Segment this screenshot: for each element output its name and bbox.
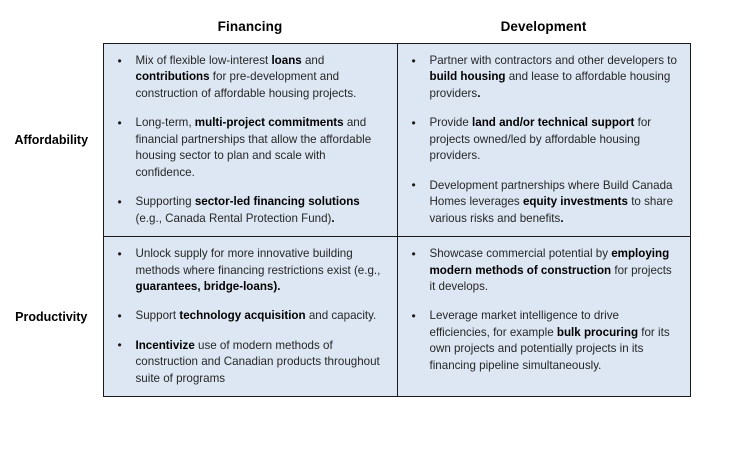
- row-header-affordability: Affordability: [0, 44, 103, 237]
- bullet-text: Showcase commercial potential by employi…: [430, 247, 672, 293]
- bullet-item: Mix of flexible low-interest loans and c…: [110, 53, 385, 102]
- bullet-text: Incentivize use of modern methods of con…: [136, 339, 380, 385]
- row-header-productivity: Productivity: [0, 237, 103, 397]
- bullet-text: Development partnerships where Build Can…: [430, 179, 674, 225]
- bullet-text: Mix of flexible low-interest loans and c…: [136, 54, 357, 100]
- table-header-row: Financing Development: [0, 10, 690, 44]
- bullet-item: Support technology acquisition and capac…: [110, 308, 385, 324]
- bullet-item: Unlock supply for more innovative buildi…: [110, 246, 385, 295]
- bullet-item: Provide land and/or technical support fo…: [404, 115, 678, 164]
- bullet-text: Provide land and/or technical support fo…: [430, 116, 652, 162]
- cell-affordability-financing: Mix of flexible low-interest loans and c…: [103, 44, 397, 237]
- strategy-matrix-table: Financing Development Affordability Mix …: [0, 10, 691, 397]
- bullet-text: Leverage market intelligence to drive ef…: [430, 309, 670, 371]
- bullet-item: Leverage market intelligence to drive ef…: [404, 308, 678, 374]
- matrix-container: Financing Development Affordability Mix …: [0, 0, 733, 453]
- bullet-text: Unlock supply for more innovative buildi…: [136, 247, 381, 293]
- bullet-list-affordability-financing: Mix of flexible low-interest loans and c…: [110, 53, 385, 227]
- table-row-affordability: Affordability Mix of flexible low-intere…: [0, 44, 690, 237]
- bullet-item: Showcase commercial potential by employi…: [404, 246, 678, 295]
- bullet-item: Long-term, multi-project commitments and…: [110, 115, 385, 181]
- bullet-item: Supporting sector-led financing solution…: [110, 194, 385, 227]
- bullet-item: Partner with contractors and other devel…: [404, 53, 678, 102]
- bullet-list-productivity-development: Showcase commercial potential by employi…: [404, 246, 678, 374]
- table-row-productivity: Productivity Unlock supply for more inno…: [0, 237, 690, 397]
- cell-productivity-financing: Unlock supply for more innovative buildi…: [103, 237, 397, 397]
- bullet-item: Incentivize use of modern methods of con…: [110, 338, 385, 387]
- bullet-text: Support technology acquisition and capac…: [136, 309, 377, 322]
- bullet-list-productivity-financing: Unlock supply for more innovative buildi…: [110, 246, 385, 387]
- bullet-text: Supporting sector-led financing solution…: [136, 195, 360, 224]
- bullet-text: Long-term, multi-project commitments and…: [136, 116, 372, 178]
- corner-blank-cell: [0, 10, 103, 44]
- bullet-text: Partner with contractors and other devel…: [430, 54, 677, 100]
- bullet-list-affordability-development: Partner with contractors and other devel…: [404, 53, 678, 227]
- bullet-item: Development partnerships where Build Can…: [404, 178, 678, 227]
- cell-affordability-development: Partner with contractors and other devel…: [397, 44, 690, 237]
- cell-productivity-development: Showcase commercial potential by employi…: [397, 237, 690, 397]
- column-header-financing: Financing: [103, 10, 397, 44]
- column-header-development: Development: [397, 10, 690, 44]
